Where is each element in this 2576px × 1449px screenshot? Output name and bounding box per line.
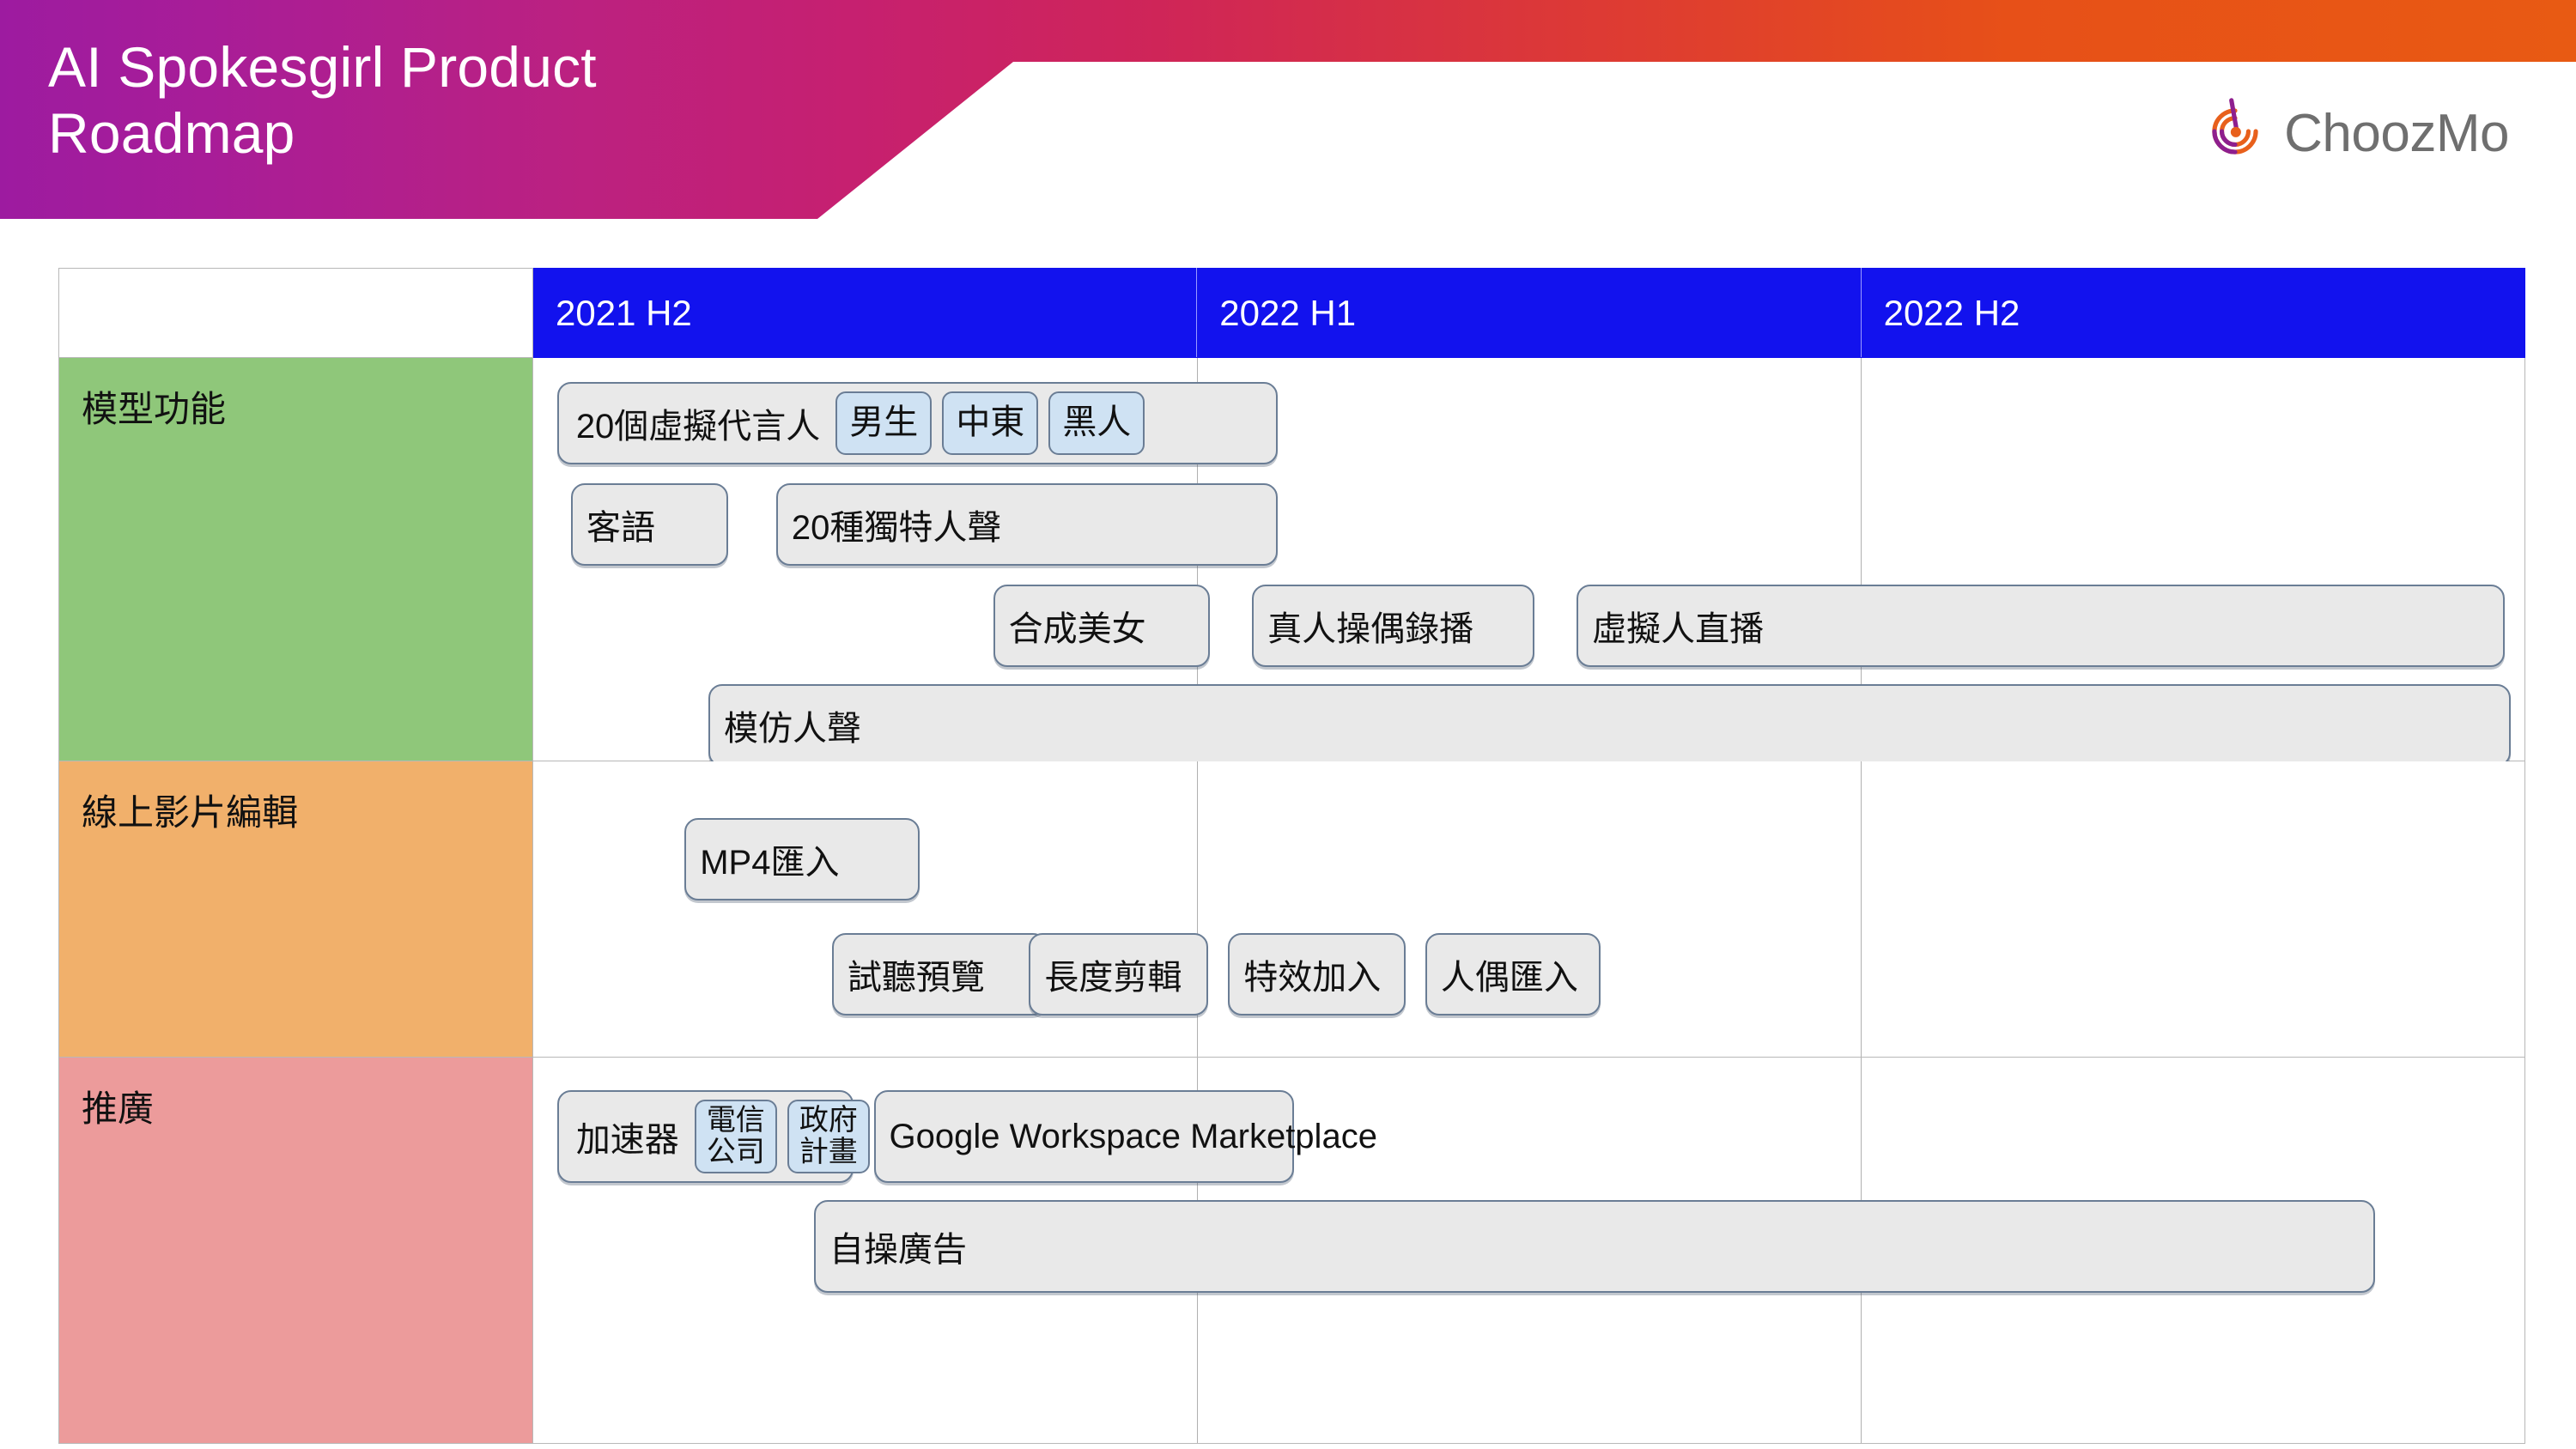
roadmap-table-wrapper: 2021 H22022 H12022 H2模型功能20個虛擬代言人男生中東黑人客… bbox=[58, 268, 2524, 1444]
header-corner-cell bbox=[59, 269, 533, 358]
roadmap-item-label: 特效加入 bbox=[1243, 949, 1381, 999]
roadmap-header-row: 2021 H22022 H12022 H2 bbox=[59, 269, 2525, 358]
roadmap-item[interactable]: 20種獨特人聲 bbox=[776, 483, 1278, 566]
roadmap-item[interactable]: MP4匯入 bbox=[684, 818, 920, 900]
roadmap-item-label: 虛擬人直播 bbox=[1592, 601, 1764, 651]
roadmap-item[interactable]: 真人操偶錄播 bbox=[1252, 585, 1534, 667]
row-label-1: 模型功能 bbox=[59, 358, 533, 761]
roadmap-row: 線上影片編輯MP4匯入試聽預覽長度剪輯特效加入人偶匯入 bbox=[59, 761, 2525, 1058]
quarter-divider-2 bbox=[1861, 761, 1862, 1057]
roadmap-item-label: 真人操偶錄播 bbox=[1267, 601, 1473, 651]
roadmap-item-tag[interactable]: 中東 bbox=[942, 391, 1038, 455]
roadmap-item[interactable]: Google Workspace Marketplace bbox=[874, 1090, 1294, 1183]
page-title: AI Spokesgirl Product Roadmap bbox=[48, 34, 907, 166]
roadmap-table: 2021 H22022 H12022 H2模型功能20個虛擬代言人男生中東黑人客… bbox=[58, 268, 2525, 1444]
row-label-3: 推廣 bbox=[59, 1058, 533, 1444]
roadmap-item-tag[interactable]: 政府計畫 bbox=[787, 1100, 870, 1173]
roadmap-item-label: 客語 bbox=[586, 500, 655, 549]
timeline-lane-3: 加速器電信公司政府計畫Google Workspace Marketplace自… bbox=[533, 1058, 2525, 1444]
roadmap-item[interactable]: 模仿人聲 bbox=[708, 684, 2511, 767]
roadmap-item-tag[interactable]: 電信公司 bbox=[695, 1100, 777, 1173]
banner-gradient-shape bbox=[0, 0, 2576, 225]
spiral-target-icon bbox=[2198, 94, 2272, 173]
roadmap-item[interactable]: 人偶匯入 bbox=[1425, 933, 1601, 1016]
roadmap-item-label: 加速器 bbox=[576, 1112, 679, 1161]
roadmap-item[interactable]: 加速器電信公司政府計畫 bbox=[557, 1090, 854, 1183]
roadmap-item-label: 20個虛擬代言人 bbox=[576, 398, 821, 448]
roadmap-item-label: 自操廣告 bbox=[829, 1222, 967, 1271]
row-label-2: 線上影片編輯 bbox=[59, 761, 533, 1058]
roadmap-item-label: 合成美女 bbox=[1009, 601, 1146, 651]
timeline-header-2: 2022 H1 bbox=[1197, 269, 1861, 358]
roadmap-item[interactable]: 虛擬人直播 bbox=[1577, 585, 2505, 667]
roadmap-item-label: 試聽預覽 bbox=[848, 949, 985, 999]
roadmap-item-label: MP4匯入 bbox=[700, 834, 839, 884]
roadmap-item[interactable]: 合成美女 bbox=[993, 585, 1211, 667]
roadmap-item[interactable]: 20個虛擬代言人男生中東黑人 bbox=[557, 382, 1278, 464]
roadmap-item[interactable]: 特效加入 bbox=[1228, 933, 1405, 1016]
brand-name: ChoozMo bbox=[2284, 107, 2509, 161]
brand-logo: ChoozMo bbox=[2198, 94, 2509, 173]
roadmap-item-label: Google Workspace Marketplace bbox=[890, 1118, 1377, 1156]
roadmap-item[interactable]: 客語 bbox=[571, 483, 728, 566]
timeline-header-3: 2022 H2 bbox=[1861, 269, 2524, 358]
roadmap-row: 推廣加速器電信公司政府計畫Google Workspace Marketplac… bbox=[59, 1058, 2525, 1444]
timeline-lane-1: 20個虛擬代言人男生中東黑人客語20種獨特人聲合成美女真人操偶錄播虛擬人直播模仿… bbox=[533, 358, 2525, 761]
roadmap-item[interactable]: 長度剪輯 bbox=[1029, 933, 1208, 1016]
roadmap-item-label: 人偶匯入 bbox=[1441, 949, 1578, 999]
roadmap-item-label: 20種獨特人聲 bbox=[792, 500, 1002, 549]
timeline-lane-2: MP4匯入試聽預覽長度剪輯特效加入人偶匯入 bbox=[533, 761, 2525, 1058]
roadmap-item[interactable]: 試聽預覽 bbox=[832, 933, 1047, 1016]
timeline-header-1: 2021 H2 bbox=[533, 269, 1197, 358]
roadmap-item-label: 模仿人聲 bbox=[724, 700, 861, 750]
header-banner: AI Spokesgirl Product Roadmap bbox=[0, 0, 2576, 225]
roadmap-item-label: 長度剪輯 bbox=[1044, 949, 1182, 999]
roadmap-row: 模型功能20個虛擬代言人男生中東黑人客語20種獨特人聲合成美女真人操偶錄播虛擬人… bbox=[59, 358, 2525, 761]
roadmap-item[interactable]: 自操廣告 bbox=[814, 1200, 2375, 1293]
roadmap-item-tag[interactable]: 男生 bbox=[835, 391, 932, 455]
roadmap-table-body: 2021 H22022 H12022 H2模型功能20個虛擬代言人男生中東黑人客… bbox=[59, 269, 2525, 1444]
roadmap-item-tag[interactable]: 黑人 bbox=[1048, 391, 1145, 455]
